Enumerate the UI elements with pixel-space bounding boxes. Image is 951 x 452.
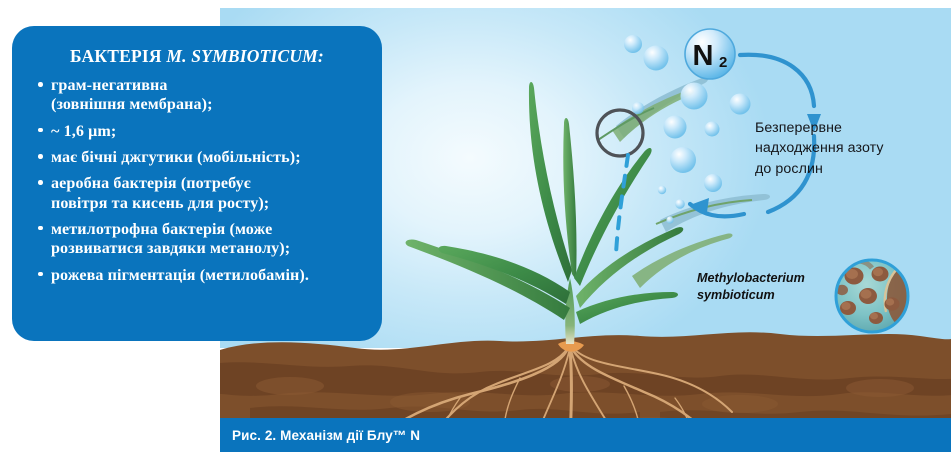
n2-label: N — [693, 40, 714, 72]
list-item: має бічні джгутики (мобільність); — [38, 148, 366, 167]
wheat-plant — [406, 77, 770, 344]
bacteria-info-box: БАКТЕРІЯ M. SYMBIOTICUM: грам-негативна … — [12, 26, 382, 341]
list-item: аеробна бактерія (потребує повітря та ки… — [38, 174, 366, 213]
list-item: метилотрофна бактерія (може розвиватися … — [38, 220, 366, 259]
info-box-title: БАКТЕРІЯ M. SYMBIOTICUM: — [26, 46, 368, 67]
bullet-line-1: рожева пігментація (метилобамін). — [51, 267, 309, 284]
bacteria-magnified-circle — [836, 260, 926, 332]
leaf — [576, 292, 678, 324]
left-margin-mask — [0, 342, 220, 452]
arrowhead-down — [807, 114, 821, 132]
bullet-line-1: метилотрофна бактерія (може — [51, 221, 272, 238]
bullet-line-2: повітря та кисень для росту); — [51, 194, 366, 213]
title-main: БАКТЕРІЯ — [70, 46, 166, 66]
leaf — [660, 194, 770, 232]
bullet-line-1: ~ 1,6 μm; — [51, 123, 116, 140]
bullet-line-2: (зовнішня мембрана); — [51, 95, 366, 114]
n2-subscript: 2 — [719, 54, 727, 71]
list-item: рожева пігментація (метилобамін). — [38, 266, 366, 285]
top-margin-mask — [0, 0, 220, 26]
title-species: M. SYMBIOTICUM: — [166, 46, 324, 66]
bullet-line-2: розвиватися завдяки метанолу); — [51, 239, 366, 258]
figure-caption-text: Рис. 2. Механізм дії Блу™ N — [220, 428, 420, 443]
bullet-line-1: має бічні джгутики (мобільність); — [51, 149, 301, 166]
figure-canvas: N 2 Безперервне надходження азоту до рос… — [0, 0, 951, 452]
bullet-line-1: грам-негативна — [51, 77, 168, 94]
nitrogen-molecule-bubble: N 2 — [685, 29, 735, 79]
bacteria-properties-list: грам-негативна (зовнішня мембрана); ~ 1,… — [26, 76, 368, 285]
list-item: ~ 1,6 μm; — [38, 122, 366, 141]
figure-caption-bar: Рис. 2. Механізм дії Блу™ N — [220, 418, 951, 452]
bullet-line-1: аеробна бактерія (потребує — [51, 175, 251, 192]
list-item: грам-негативна (зовнішня мембрана); — [38, 76, 366, 115]
